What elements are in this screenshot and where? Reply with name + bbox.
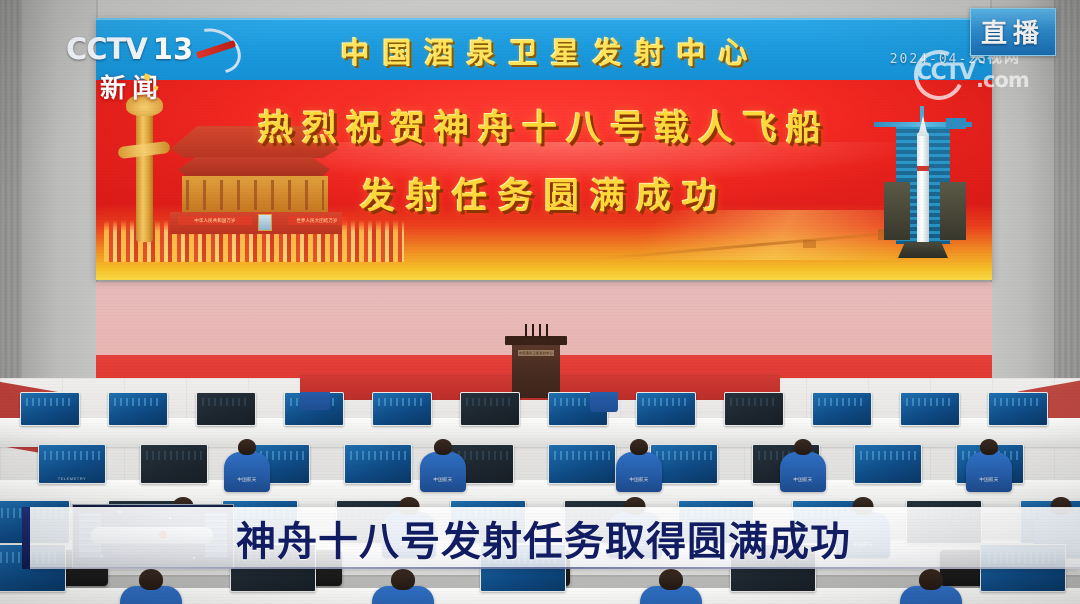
podium-plaque: 中国酒泉卫星发射中心 [518,350,554,356]
console-monitor [372,392,432,426]
console-monitor [854,444,922,484]
great-wall-tower-2 [803,240,816,248]
uniform-badge: 中国航天 [793,477,812,483]
cctv13-channel-logo: CCTV 13 新闻 [66,28,238,104]
uniform-badge: 中国航天 [979,477,998,483]
watermark-com-text: .com [976,68,1029,92]
seated-operator [640,586,702,604]
lower-third-caption-bar: 神舟十八号发射任务取得圆满成功 [30,507,1080,569]
uniform-badge: 中国航天 [629,477,648,483]
uniform-badge: 中国航天 [433,477,452,483]
console-monitor [108,392,168,426]
console-workstation-area: TELEMETRY 中国航天 中国航天 中国航天 [0,392,1080,604]
seated-operator [372,586,434,604]
cctv-wordmark: CCTV [66,32,147,66]
podium-microphones [524,324,550,338]
cctv-logo-row: CCTV 13 [66,28,238,70]
console-monitor [460,392,520,426]
lower-third-underline [30,567,1080,569]
console-monitor [140,444,208,484]
launch-pad-base [898,242,948,258]
watermark-cctv-text: CCTV [916,60,974,85]
banner-headline-line-2: 发射任务圆满成功 [360,177,728,217]
console-monitor [988,392,1048,426]
standing-operator [300,392,330,410]
console-monitor [196,392,256,426]
seated-operator: 中国航天 [420,452,466,492]
uniform-badge: 中国航天 [237,477,256,483]
seated-operator: 中国航天 [966,452,1012,492]
console-monitor [724,392,784,426]
channel-number: 13 [153,32,193,66]
banner-headline-line-1: 热烈祝贺神舟十八号载人飞船 [258,109,830,149]
standing-operator [590,392,618,412]
live-badge: 直播 [970,8,1056,56]
console-monitor: TELEMETRY [38,444,106,484]
console-monitor [344,444,412,484]
console-monitor [812,392,872,426]
seated-operator: 中国航天 [616,452,662,492]
console-monitor [900,392,960,426]
console-monitor [20,392,80,426]
broadcast-frame: 中国酒泉卫星发射中心 中国酒泉卫星发射中心 [0,0,1080,604]
seated-operator: 中国航天 [780,452,826,492]
banner-headline-line-1-wrap: 热烈祝贺神舟十八号载人飞船 [96,100,992,151]
seated-operator: 中国航天 [900,586,962,604]
seated-operator: 中国航天 [224,452,270,492]
console-monitor [548,444,616,484]
seated-operator [120,586,182,604]
speaker-podium [512,340,560,398]
banner-venue-title: 中国酒泉卫星发射中心 [327,30,760,72]
lower-third-accent [22,507,30,569]
lower-third-caption: 神舟十八号发射任务取得圆满成功 [236,509,851,567]
console-monitor [636,392,696,426]
banner-headline-line-2-wrap: 发射任务圆满成功 [96,168,992,219]
banner-red-field: 中华人民共和国万岁 世界人民大团结万岁 热烈祝贺神舟十八号载人飞船 [96,80,992,280]
